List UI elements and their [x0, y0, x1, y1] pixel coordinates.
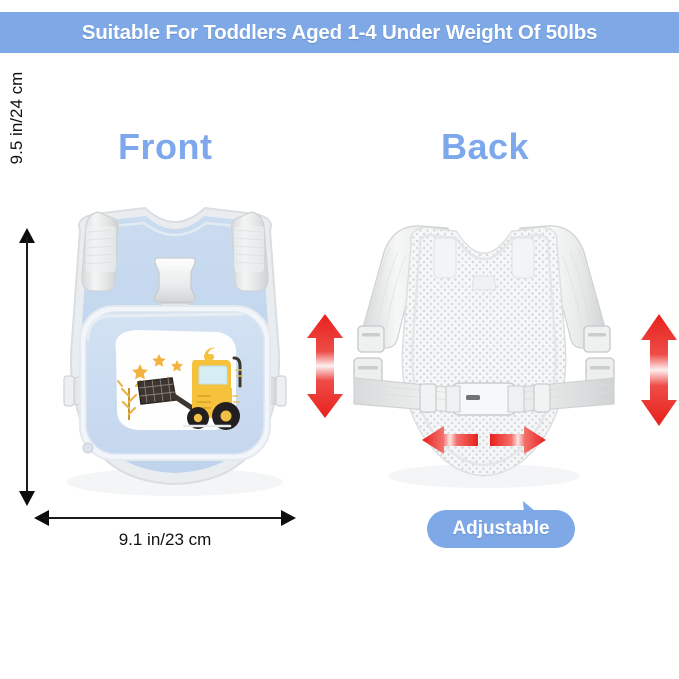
shoulder-strap-right	[232, 212, 268, 291]
strap-tab-left	[434, 238, 456, 278]
left-strap-length-arrow	[303, 312, 347, 420]
arrow-down-icon	[19, 491, 35, 506]
graphic-patch	[115, 330, 242, 430]
center-tab	[472, 276, 496, 290]
product-image-back	[338, 190, 630, 500]
waist-buckle	[446, 383, 524, 415]
product-image-front	[40, 190, 310, 500]
dimension-line	[26, 237, 28, 497]
header-banner-text: Suitable For Toddlers Aged 1-4 Under Wei…	[82, 21, 597, 45]
right-strap-length-arrow	[637, 312, 679, 428]
strap-tab-right	[512, 238, 534, 278]
belt-loop-right	[534, 384, 550, 412]
mesh-fabric	[398, 220, 578, 490]
front-view-label: Front	[118, 126, 212, 168]
width-dimension-arrow	[34, 509, 296, 527]
height-dimension-label: 9.5 in/24 cm	[7, 38, 27, 198]
belt-loop-left	[420, 384, 436, 412]
zipper-pull	[83, 443, 93, 453]
shoulder-strap-left	[82, 212, 118, 291]
width-dimension-label: 9.1 in/23 cm	[34, 530, 296, 550]
adjustable-callout-text: Adjustable	[452, 518, 549, 540]
back-view-label: Back	[441, 126, 529, 168]
dimension-line	[43, 517, 287, 519]
height-dimension-arrow	[18, 228, 36, 506]
strap-adjuster-left	[358, 326, 384, 352]
arrow-right-icon	[281, 510, 296, 526]
arrow-updown-icon	[307, 314, 343, 418]
arrow-updown-icon	[641, 314, 677, 426]
strap-adjuster-right	[584, 326, 610, 352]
adjustable-callout: Adjustable	[427, 510, 575, 548]
header-banner: Suitable For Toddlers Aged 1-4 Under Wei…	[0, 12, 679, 53]
chest-buckle	[155, 258, 195, 311]
bucket-icon	[138, 378, 176, 404]
